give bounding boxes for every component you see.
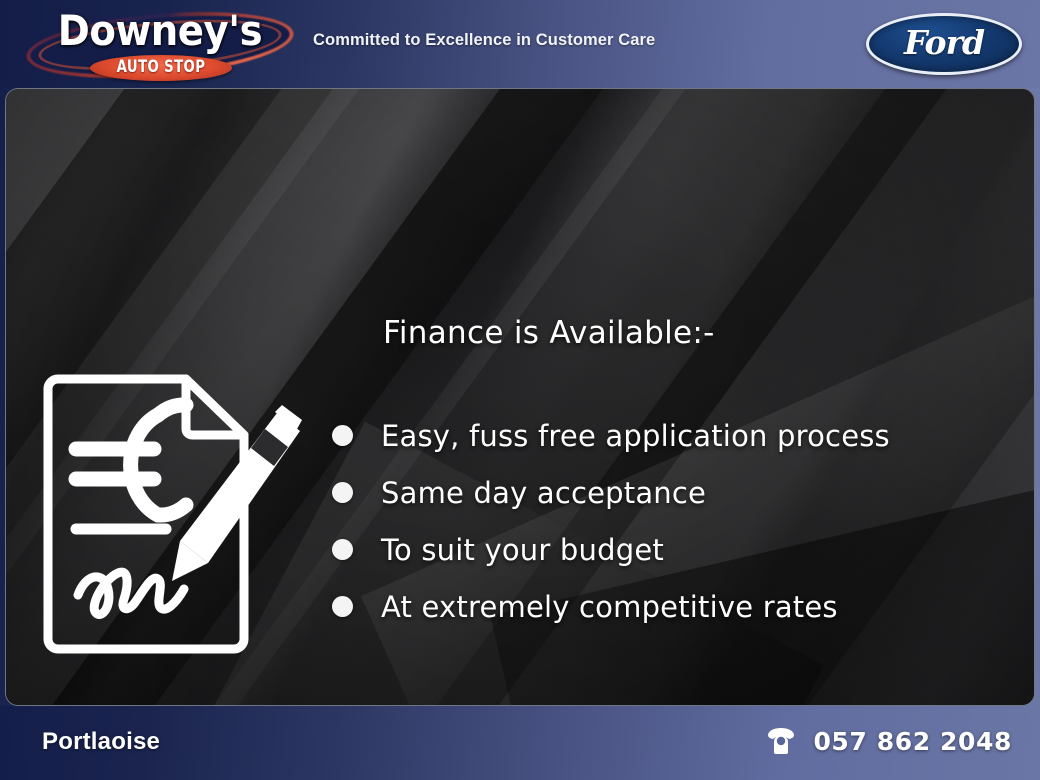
list-item: Same day acceptance xyxy=(332,464,890,521)
bullet-icon xyxy=(332,596,353,617)
dealer-finance-advert: Downey's AUTO STOP Committed to Excellen… xyxy=(0,0,1040,780)
bullet-icon xyxy=(332,482,353,503)
dealer-sub-name-text: AUTO STOP xyxy=(106,57,217,77)
list-item: At extremely competitive rates xyxy=(332,578,890,635)
bullet-icon xyxy=(332,539,353,560)
dealer-logo[interactable]: Downey's AUTO STOP xyxy=(22,4,298,86)
telephone-icon xyxy=(764,728,798,756)
bullet-icon xyxy=(332,425,353,446)
ford-logo[interactable]: Ford xyxy=(866,13,1022,75)
phone-number: 057 862 2048 xyxy=(813,727,1012,756)
phone-contact[interactable]: 057 862 2048 xyxy=(764,727,1012,756)
benefit-label: Easy, fuss free application process xyxy=(381,419,890,453)
list-item: To suit your budget xyxy=(332,521,890,578)
benefit-label: Same day acceptance xyxy=(381,476,706,510)
dealer-name-text: Downey's xyxy=(33,6,287,55)
ford-logo-text: Ford xyxy=(866,13,1022,75)
page-title: Finance is Available:- xyxy=(383,315,715,351)
finance-document-signature-icon xyxy=(36,367,311,662)
benefit-label: At extremely competitive rates xyxy=(381,590,838,624)
benefit-label: To suit your budget xyxy=(381,533,664,567)
benefits-list: Easy, fuss free application process Same… xyxy=(332,407,890,635)
tagline-text: Committed to Excellence in Customer Care xyxy=(313,31,655,50)
footer-bar: Portlaoise 057 862 2048 xyxy=(0,706,1040,780)
list-item: Easy, fuss free application process xyxy=(332,407,890,464)
poster-card: Finance is Available:- Easy, fuss free a… xyxy=(5,88,1035,706)
location-label: Portlaoise xyxy=(42,728,160,756)
header-bar: Downey's AUTO STOP Committed to Excellen… xyxy=(0,0,1040,88)
